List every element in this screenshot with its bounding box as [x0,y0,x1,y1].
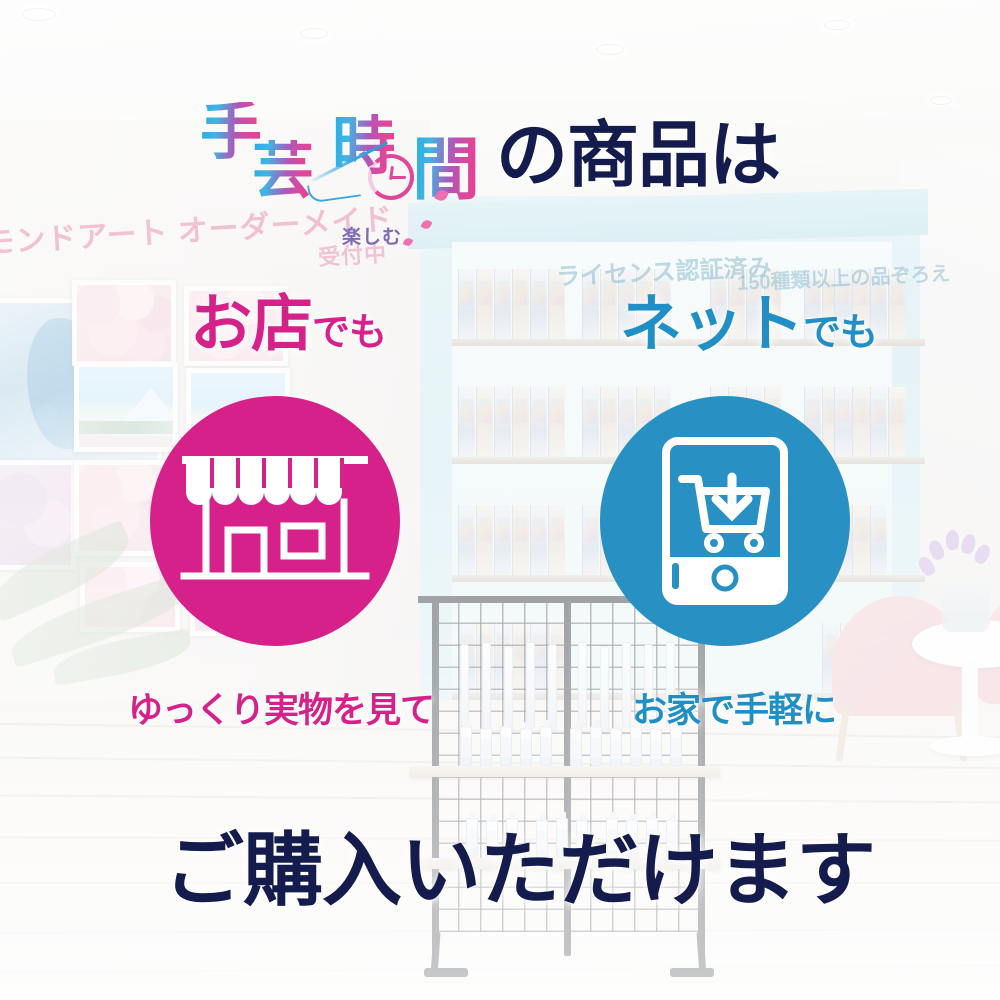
label-store: お店でも [190,294,386,356]
logo-char-gei: 芸 [252,140,312,202]
circle-net[interactable] [600,396,850,646]
storefront-icon [180,446,370,596]
label-net-small: でも [803,312,877,354]
smartphone-cart-icon [660,435,790,607]
headline-top: の商品は [496,96,780,201]
logo-subtitle: 楽しむ [342,222,402,249]
label-store-small: でも [312,312,386,354]
thread-icon [307,178,361,203]
headline-bottom: ご購入いただけます [164,806,875,922]
caption-net: お家で手軽に [632,682,836,733]
label-net-big: ネット [620,290,803,359]
label-store-big: お店 [190,290,312,359]
caption-store: ゆっくり実物を見て [128,682,434,733]
overlay-graphics: 手 芸 時 間 楽しむ の商品は お店でも ネットでも [0,0,1000,1000]
petal-icon [403,237,414,248]
clock-hand-minute-icon [390,176,406,179]
logo-char-te: 手 [200,102,260,164]
petal-icon [421,219,433,231]
brand-logo: 手 芸 時 間 楽しむ [190,78,490,208]
poster-canvas: モンドアート オーダーメイド 受付中 ライセンス認証済み 150種類以上の品ぞろ… [0,0,1000,1000]
label-net: ネットでも [620,294,877,356]
circle-store[interactable] [150,396,400,646]
